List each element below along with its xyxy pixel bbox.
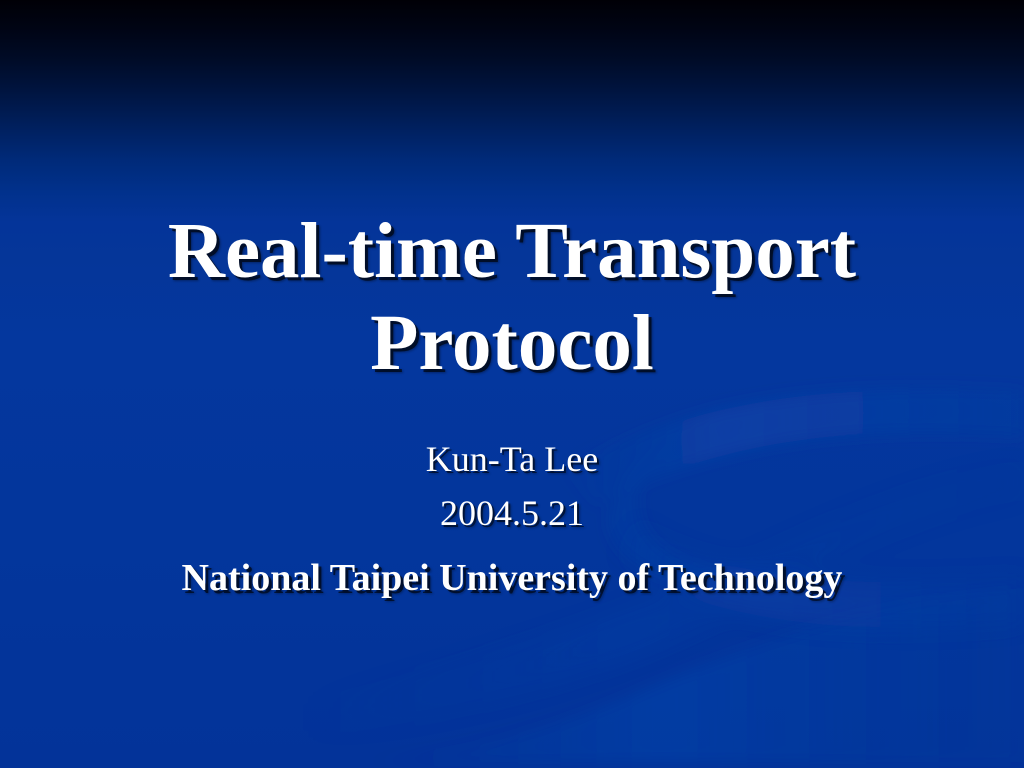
slide-subtitle: Kun-Ta Lee 2004.5.21 National Taipei Uni… xyxy=(62,432,962,608)
subtitle-date: 2004.5.21 xyxy=(62,486,962,540)
title-line-2: Protocol xyxy=(72,298,952,390)
subtitle-organization: National Taipei University of Technology xyxy=(62,548,962,608)
subtitle-author: Kun-Ta Lee xyxy=(62,432,962,486)
presentation-slide: Real-time Transport Protocol Kun-Ta Lee … xyxy=(0,0,1024,768)
slide-title: Real-time Transport Protocol xyxy=(72,206,952,390)
title-line-1: Real-time Transport xyxy=(72,206,952,298)
